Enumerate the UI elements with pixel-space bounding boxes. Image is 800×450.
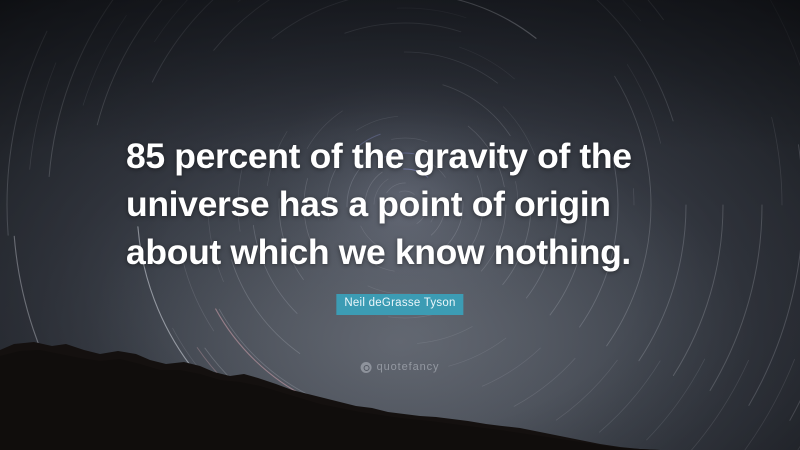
quote-poster: 85 percent of the gravity of the univers…	[0, 0, 800, 450]
quote-text: 85 percent of the gravity of the univers…	[126, 132, 686, 276]
author-badge[interactable]: Neil deGrasse Tyson	[336, 294, 463, 315]
quotefancy-wordmark: quotefancy	[377, 362, 440, 373]
quotefancy-logo-icon	[361, 362, 372, 373]
quotefancy-watermark[interactable]: quotefancy	[361, 362, 440, 373]
